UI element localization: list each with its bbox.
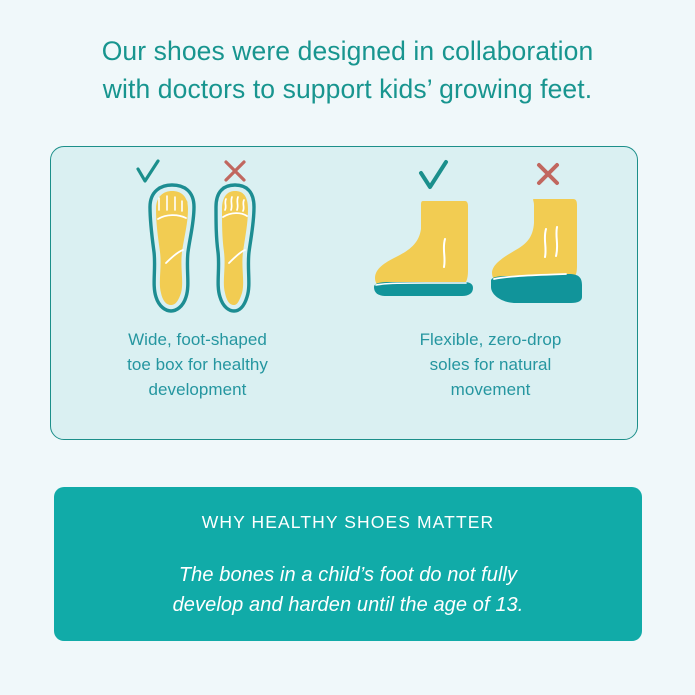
cramped-foot-illustration xyxy=(216,185,254,311)
feet-illustration xyxy=(51,147,344,317)
cross-icon xyxy=(226,162,244,180)
page-headline: Our shoes were designed in collaboration… xyxy=(0,32,695,108)
why-healthy-shoes-banner: WHY HEALTHY SHOES MATTER The bones in a … xyxy=(54,487,642,641)
banner-title: WHY HEALTHY SHOES MATTER xyxy=(202,512,495,533)
check-icon xyxy=(421,162,446,187)
flat-boot-illustration xyxy=(374,201,473,296)
feature-column-soles: Flexible, zero-drop soles for natural mo… xyxy=(344,147,637,439)
feature-caption-soles: Flexible, zero-drop soles for natural mo… xyxy=(420,327,562,402)
check-icon xyxy=(138,161,158,181)
heeled-boot-illustration xyxy=(491,199,582,303)
cross-icon xyxy=(539,165,557,183)
feature-caption-toe-box: Wide, foot-shaped toe box for healthy de… xyxy=(127,327,268,402)
feature-card: Wide, foot-shaped toe box for healthy de… xyxy=(50,146,638,440)
banner-body: The bones in a child’s foot do not fully… xyxy=(173,560,524,620)
healthy-foot-illustration xyxy=(150,185,194,311)
boots-illustration xyxy=(344,147,637,317)
feature-column-toe-box: Wide, foot-shaped toe box for healthy de… xyxy=(51,147,344,439)
